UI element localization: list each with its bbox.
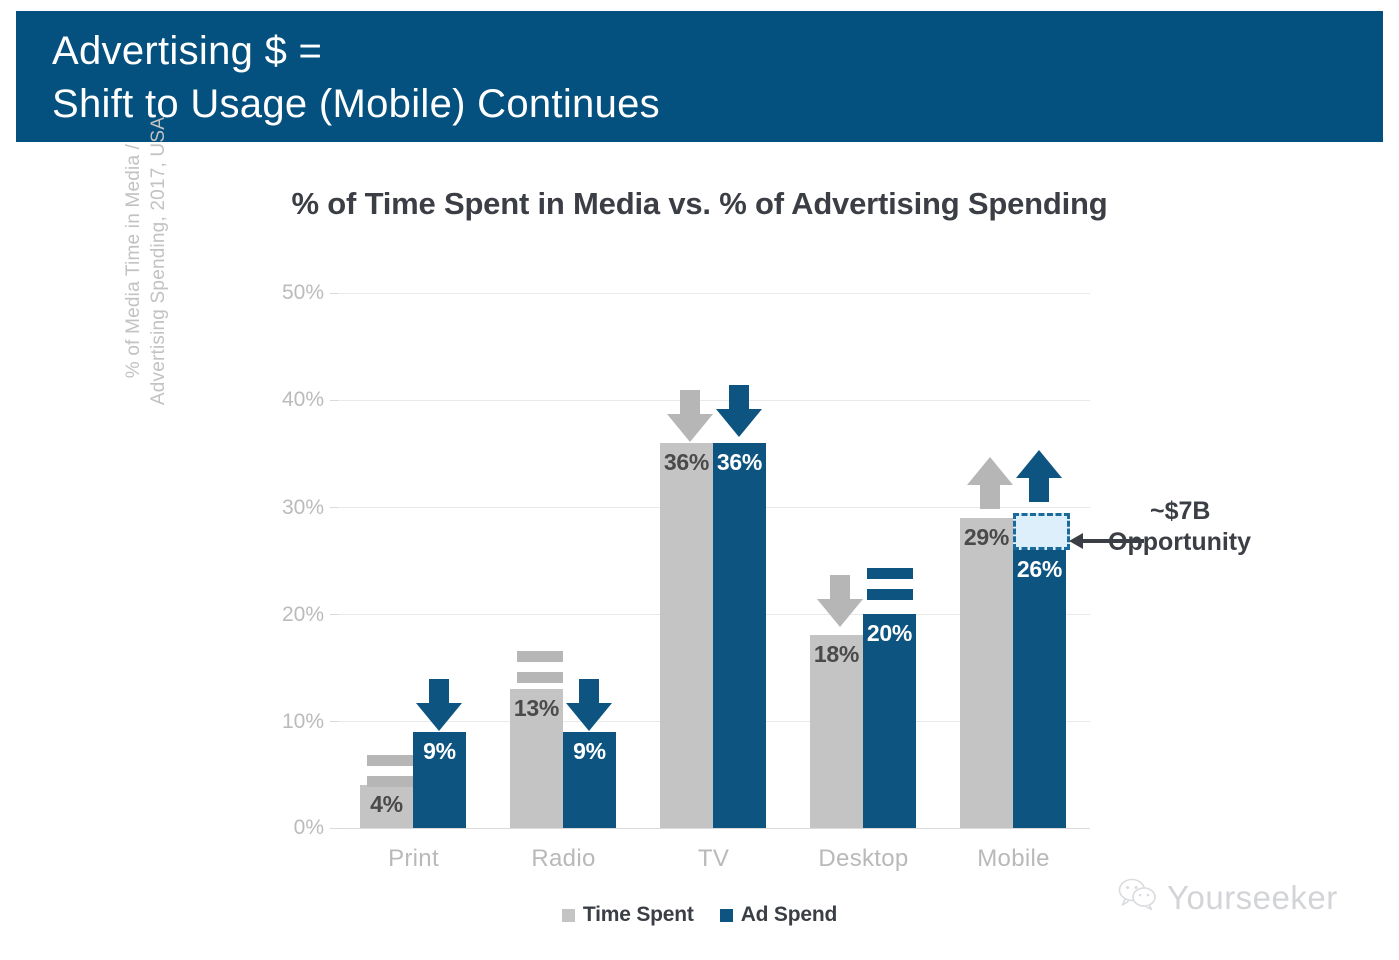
bar-desktop-ad-spend[interactable]: 20% [863, 614, 916, 828]
equals-icon-print-time-spent [367, 755, 413, 789]
x-axis-label-tv: TV [646, 845, 781, 873]
legend-swatch-ad-spend [720, 909, 733, 922]
slide-title-line-1: Advertising $ = [52, 25, 1383, 78]
x-axis-label-print: Print [346, 845, 481, 873]
y-tick-label-40: 40% [262, 388, 324, 412]
y-axis-title-line-2: Advertising Spending, 2017, USA [148, 117, 169, 405]
y-tick-label-0: 0% [262, 816, 324, 840]
bar-label-desktop-ad-spend: 20% [863, 620, 916, 647]
bar-label-mobile-time-spent: 29% [960, 524, 1013, 551]
bar-label-radio-time-spent: 13% [510, 695, 563, 722]
arrow-down-icon-tv-time-spent [667, 390, 713, 442]
arrow-down-icon-desktop-time-spent [817, 575, 863, 627]
slide-header-banner: Advertising $ = Shift to Usage (Mobile) … [16, 11, 1383, 142]
y-tick-label-10: 10% [262, 710, 324, 734]
arrow-down-icon-tv-ad-spend [716, 385, 762, 437]
legend-item-ad-spend[interactable]: Ad Spend [720, 903, 837, 927]
wechat-icon [1118, 878, 1158, 917]
x-axis-label-desktop: Desktop [796, 845, 931, 873]
bar-label-radio-ad-spend: 9% [563, 738, 616, 765]
legend-label-time-spent: Time Spent [583, 903, 694, 927]
y-tick-label-50: 50% [262, 281, 324, 305]
bar-label-desktop-time-spent: 18% [810, 641, 863, 668]
gridline-50 [338, 293, 1090, 294]
y-axis-title-line-1: % of Media Time in Media / [123, 144, 144, 378]
bar-label-tv-ad-spend: 36% [713, 449, 766, 476]
watermark-text: Yourseeker [1167, 879, 1338, 917]
bar-tv-time-spent[interactable]: 36% [660, 443, 713, 828]
slide-title-line-2: Shift to Usage (Mobile) Continues [52, 78, 1383, 131]
bar-label-tv-time-spent: 36% [660, 449, 713, 476]
chart-title: % of Time Spent in Media vs. % of Advert… [0, 186, 1399, 222]
legend-label-ad-spend: Ad Spend [741, 903, 837, 927]
slide-canvas: Advertising $ = Shift to Usage (Mobile) … [0, 0, 1399, 960]
equals-icon-desktop-ad-spend [867, 568, 913, 602]
bar-radio-ad-spend[interactable]: 9% [563, 732, 616, 828]
bar-tv-ad-spend[interactable]: 36% [713, 443, 766, 828]
watermark: Yourseeker [1118, 878, 1338, 917]
gridline-40 [338, 400, 1090, 401]
arrow-down-icon-print-ad-spend [416, 679, 462, 731]
bar-desktop-time-spent[interactable]: 18% [810, 635, 863, 828]
x-axis-label-mobile: Mobile [946, 845, 1081, 873]
y-tick-label-30: 30% [262, 496, 324, 520]
y-tick-label-20: 20% [262, 603, 324, 627]
gridline-0 [338, 828, 1090, 829]
bar-print-ad-spend[interactable]: 9% [413, 732, 466, 828]
arrow-up-icon-mobile-time-spent [967, 457, 1013, 509]
bar-mobile-ad-spend[interactable]: 26% [1013, 550, 1066, 828]
bar-radio-time-spent[interactable]: 13% [510, 689, 563, 828]
bar-print-time-spent[interactable]: 4% [360, 785, 413, 828]
equals-icon-radio-time-spent [517, 651, 563, 685]
bar-label-print-ad-spend: 9% [413, 738, 466, 765]
bar-label-mobile-ad-spend: 26% [1013, 556, 1066, 583]
opportunity-label: Opportunity [1108, 526, 1251, 558]
bar-mobile-time-spent[interactable]: 29% [960, 518, 1013, 828]
x-axis-label-radio: Radio [496, 845, 631, 873]
y-axis-title: % of Media Time in Media / Advertising S… [121, 21, 171, 501]
plot-area: 4% 9% 13% 9% 36% [338, 285, 1090, 836]
bar-label-print-time-spent: 4% [360, 791, 413, 818]
legend-item-time-spent[interactable]: Time Spent [562, 903, 694, 927]
arrow-down-icon-radio-ad-spend [566, 679, 612, 731]
arrow-up-icon-mobile-ad-spend [1016, 450, 1062, 502]
legend-swatch-time-spent [562, 909, 575, 922]
opportunity-amount-label: ~$7B [1150, 495, 1210, 527]
opportunity-box [1013, 513, 1070, 550]
